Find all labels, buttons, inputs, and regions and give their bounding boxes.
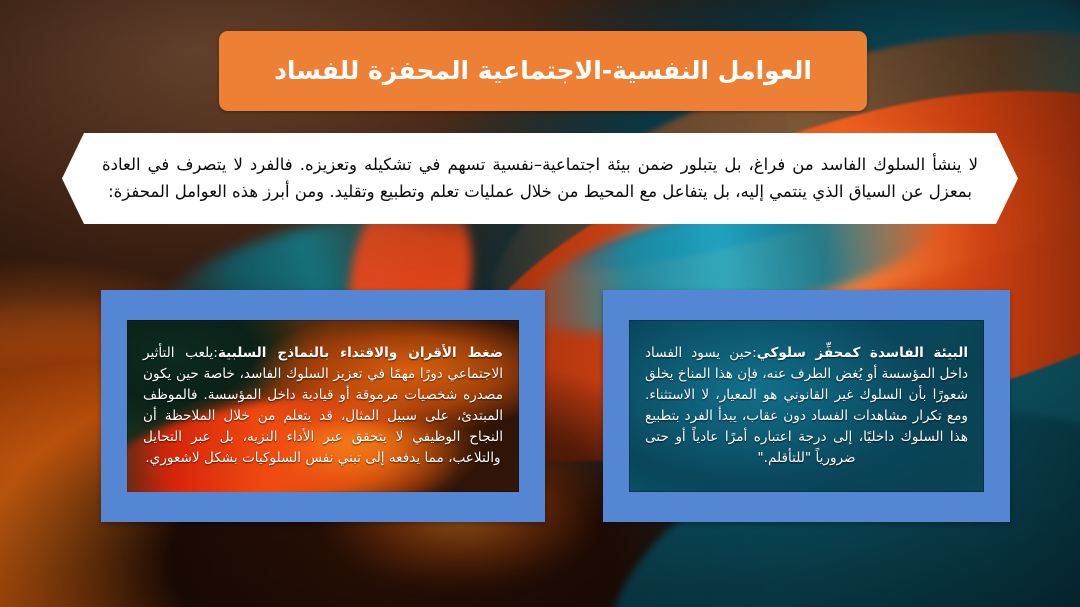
slide-title: العوامل النفسية-الاجتماعية المحفزة للفسا…	[260, 56, 826, 86]
presentation-slide: العوامل النفسية-الاجتماعية المحفزة للفسا…	[0, 0, 1080, 607]
content-card-right-body: :حين يسود الفساد داخل المؤسسة أو يُغض ال…	[645, 345, 968, 466]
slide-title-banner: العوامل النفسية-الاجتماعية المحفزة للفسا…	[219, 31, 867, 111]
intro-paragraph: لا ينشأ السلوك الفاسد من فراغ، بل يتبلور…	[62, 152, 1018, 205]
content-card-left-text: ضغط الأقران والاقتداء بالنماذج السلبية:ي…	[127, 337, 519, 475]
content-card-left: ضغط الأقران والاقتداء بالنماذج السلبية:ي…	[101, 290, 545, 522]
content-card-right-heading: البيئة الفاسدة كمحفِّز سلوكي	[757, 345, 968, 361]
content-card-left-heading: ضغط الأقران والاقتداء بالنماذج السلبية	[218, 345, 503, 361]
content-card-left-body: :يلعب التأثير الاجتماعي دورًا مهمًا في ت…	[143, 345, 503, 466]
intro-text-box: لا ينشأ السلوك الفاسد من فراغ، بل يتبلور…	[62, 133, 1018, 224]
content-card-right-text: البيئة الفاسدة كمحفِّز سلوكي:حين يسود ال…	[629, 337, 984, 475]
content-card-right-surface: البيئة الفاسدة كمحفِّز سلوكي:حين يسود ال…	[629, 320, 984, 492]
content-card-left-surface: ضغط الأقران والاقتداء بالنماذج السلبية:ي…	[127, 320, 519, 492]
content-card-right: البيئة الفاسدة كمحفِّز سلوكي:حين يسود ال…	[603, 290, 1010, 522]
